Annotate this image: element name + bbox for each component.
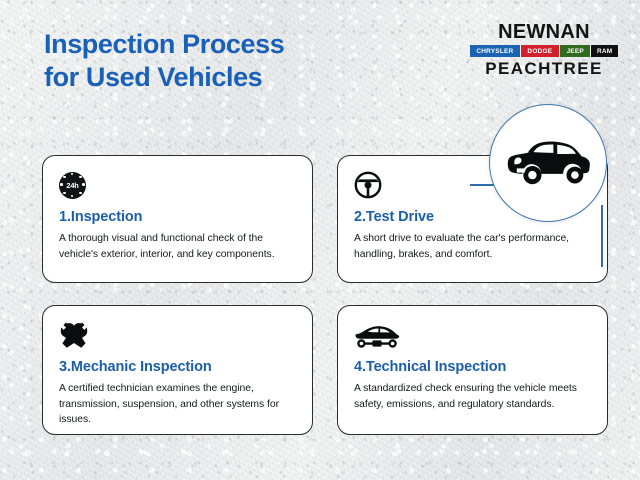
card-2-body: A short drive to evaluate the car's perf… [354, 231, 591, 262]
logo-top-text: NEWNAN [470, 22, 618, 42]
brand-jeep: JEEP [560, 45, 592, 57]
suv-vehicle-icon [506, 137, 590, 189]
page-title: Inspection Process for Used Vehicles [44, 28, 284, 94]
hero-connector-vertical [601, 205, 603, 267]
process-card-mechanic-inspection: 3.Mechanic Inspection A certified techni… [42, 305, 313, 435]
steering-wheel-icon [354, 171, 382, 199]
crossed-wrenches-icon [59, 321, 89, 349]
logo-brand-bar: CHRYSLER DODGE JEEP RAM [470, 45, 618, 57]
clock-24h-label: 24h [66, 181, 78, 190]
clock-24h-icon: 24h [59, 172, 86, 199]
card-3-body: A certified technician examines the engi… [59, 381, 296, 428]
card-3-icon-wrap [59, 320, 296, 350]
card-1-heading: 1.Inspection [59, 209, 296, 225]
hero-vehicle-badge [489, 104, 607, 222]
card-1-body: A thorough visual and functional check o… [59, 231, 296, 262]
card-4-icon-wrap [354, 320, 591, 350]
brand-chrysler: CHRYSLER [470, 45, 521, 57]
process-card-technical-inspection: 4.Technical Inspection A standardized ch… [337, 305, 608, 435]
brand-ram: RAM [591, 45, 618, 57]
card-3-heading: 3.Mechanic Inspection [59, 359, 296, 375]
card-4-heading: 4.Technical Inspection [354, 359, 591, 375]
card-1-icon-wrap: 24h [59, 170, 296, 200]
process-card-inspection: 24h 1.Inspection A thorough visual and f… [42, 155, 313, 283]
logo-bottom-text: PEACHTREE [470, 60, 618, 77]
dealership-logo: NEWNAN CHRYSLER DODGE JEEP RAM PEACHTREE [470, 22, 618, 77]
card-4-body: A standardized check ensuring the vehicl… [354, 381, 591, 412]
brand-dodge: DODGE [521, 45, 560, 57]
car-chassis-icon [354, 320, 400, 350]
